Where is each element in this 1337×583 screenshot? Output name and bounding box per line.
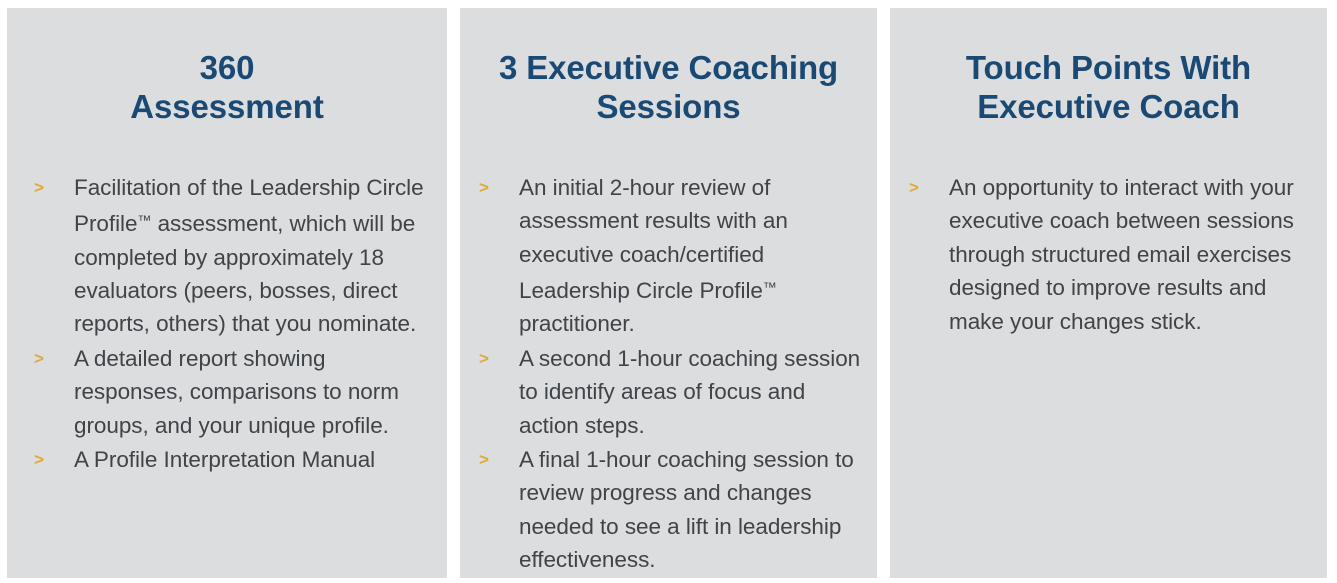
list-item-text: A detailed report showing responses, com… xyxy=(74,342,433,442)
panel-title-line-1: 360 xyxy=(200,49,255,86)
panel-touch-points-executive-coach: Touch Points WithExecutive Coach > An op… xyxy=(890,8,1327,578)
list-item: > An initial 2-hour review of assessment… xyxy=(474,171,863,341)
list-item-text: An opportunity to interact with your exe… xyxy=(949,171,1309,338)
panel-360-assessment: 360Assessment > Facilitation of the Lead… xyxy=(7,8,447,578)
list-item-text: An initial 2-hour review of assessment r… xyxy=(519,171,863,341)
list-item: > A second 1-hour coaching session to id… xyxy=(474,342,863,442)
chevron-right-bullet-icon: > xyxy=(29,171,74,204)
panel-title-line-2: Assessment xyxy=(130,88,323,125)
bullet-list-executive-coaching-sessions: > An initial 2-hour review of assessment… xyxy=(460,127,877,577)
list-item: > An opportunity to interact with your e… xyxy=(904,171,1309,338)
list-item-text: A second 1-hour coaching session to iden… xyxy=(519,342,863,442)
panel-title-executive-coaching-sessions: 3 Executive CoachingSessions xyxy=(460,8,877,127)
bullet-list-360-assessment: > Facilitation of the Leadership Circle … xyxy=(7,127,447,477)
panel-title-line-1: Touch Points With xyxy=(966,49,1251,86)
chevron-right-bullet-icon: > xyxy=(29,342,74,375)
chevron-right-bullet-icon: > xyxy=(29,443,74,476)
panel-title-line-2: Sessions xyxy=(596,88,740,125)
list-item-text: Facilitation of the Leadership Circle Pr… xyxy=(74,171,433,341)
chevron-right-bullet-icon: > xyxy=(474,171,519,204)
list-item: > A detailed report showing responses, c… xyxy=(29,342,433,442)
panel-title-line-2: Executive Coach xyxy=(977,88,1240,125)
list-item: > Facilitation of the Leadership Circle … xyxy=(29,171,433,341)
list-item: > A Profile Interpretation Manual xyxy=(29,443,433,476)
panel-title-360-assessment: 360Assessment xyxy=(7,8,447,127)
chevron-right-bullet-icon: > xyxy=(904,171,949,204)
panel-title-line-1: 3 Executive Coaching xyxy=(499,49,838,86)
chevron-right-bullet-icon: > xyxy=(474,443,519,476)
list-item: > A final 1-hour coaching session to rev… xyxy=(474,443,863,577)
chevron-right-bullet-icon: > xyxy=(474,342,519,375)
panel-executive-coaching-sessions: 3 Executive CoachingSessions > An initia… xyxy=(460,8,877,578)
panel-title-touch-points-executive-coach: Touch Points WithExecutive Coach xyxy=(890,8,1327,127)
list-item-text: A final 1-hour coaching session to revie… xyxy=(519,443,863,577)
three-column-feature-board: 360Assessment > Facilitation of the Lead… xyxy=(0,0,1337,583)
bullet-list-touch-points-executive-coach: > An opportunity to interact with your e… xyxy=(890,127,1327,338)
list-item-text: A Profile Interpretation Manual xyxy=(74,443,433,476)
